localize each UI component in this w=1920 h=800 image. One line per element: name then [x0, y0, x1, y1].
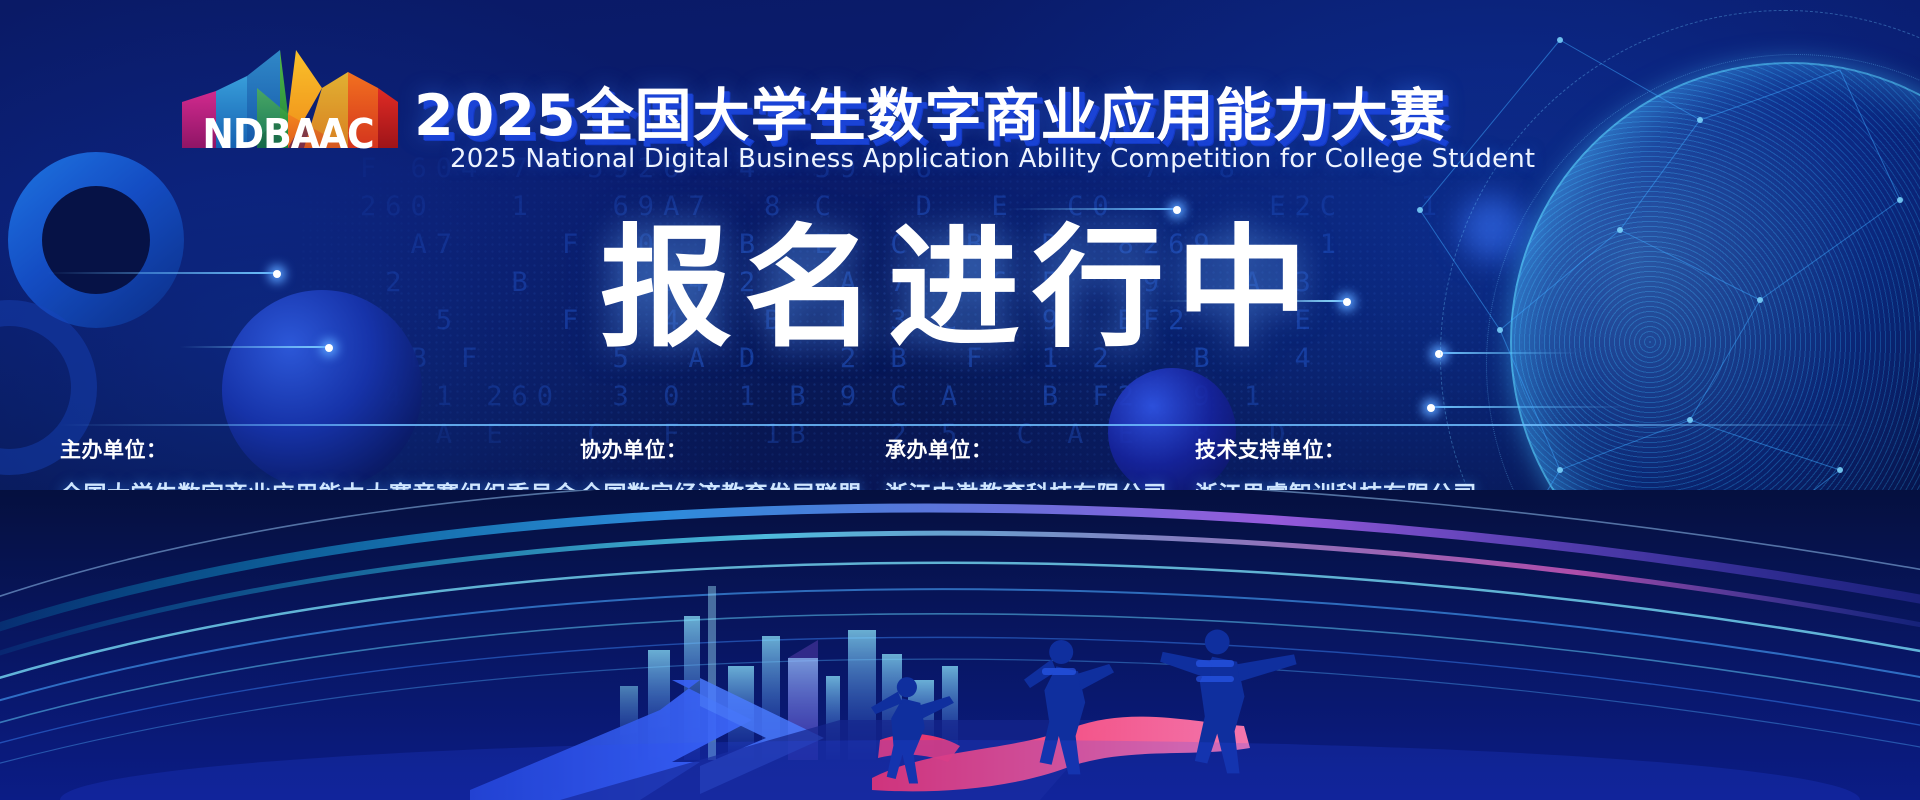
page-subtitle-en: 2025 National Digital Business Applicati… — [450, 144, 1535, 174]
ndbaac-logo: NDBAAC — [172, 44, 404, 156]
bottom-scene — [0, 490, 1920, 800]
organizer-rule-top — [60, 424, 1860, 426]
organizer-label: 承办单位： — [885, 434, 1195, 464]
logo-wordmark: NDBAAC — [170, 114, 407, 155]
competition-banner: F 604 7 5926 4 59 6 7 8 260 1 69A7 8 C D… — [0, 0, 1920, 800]
organizer-label: 技术支持单位： — [1195, 434, 1477, 464]
page-title-cn: 2025全国大学生数字商业应用能力大赛 — [414, 70, 1447, 152]
organizer-label: 协办单位： — [580, 434, 885, 464]
light-streak-3 — [1010, 208, 1178, 210]
organizer-label: 主办单位： — [60, 434, 580, 464]
headline-registration-open: 报名进行中 — [0, 218, 1920, 361]
scene-illustration — [0, 490, 1920, 800]
